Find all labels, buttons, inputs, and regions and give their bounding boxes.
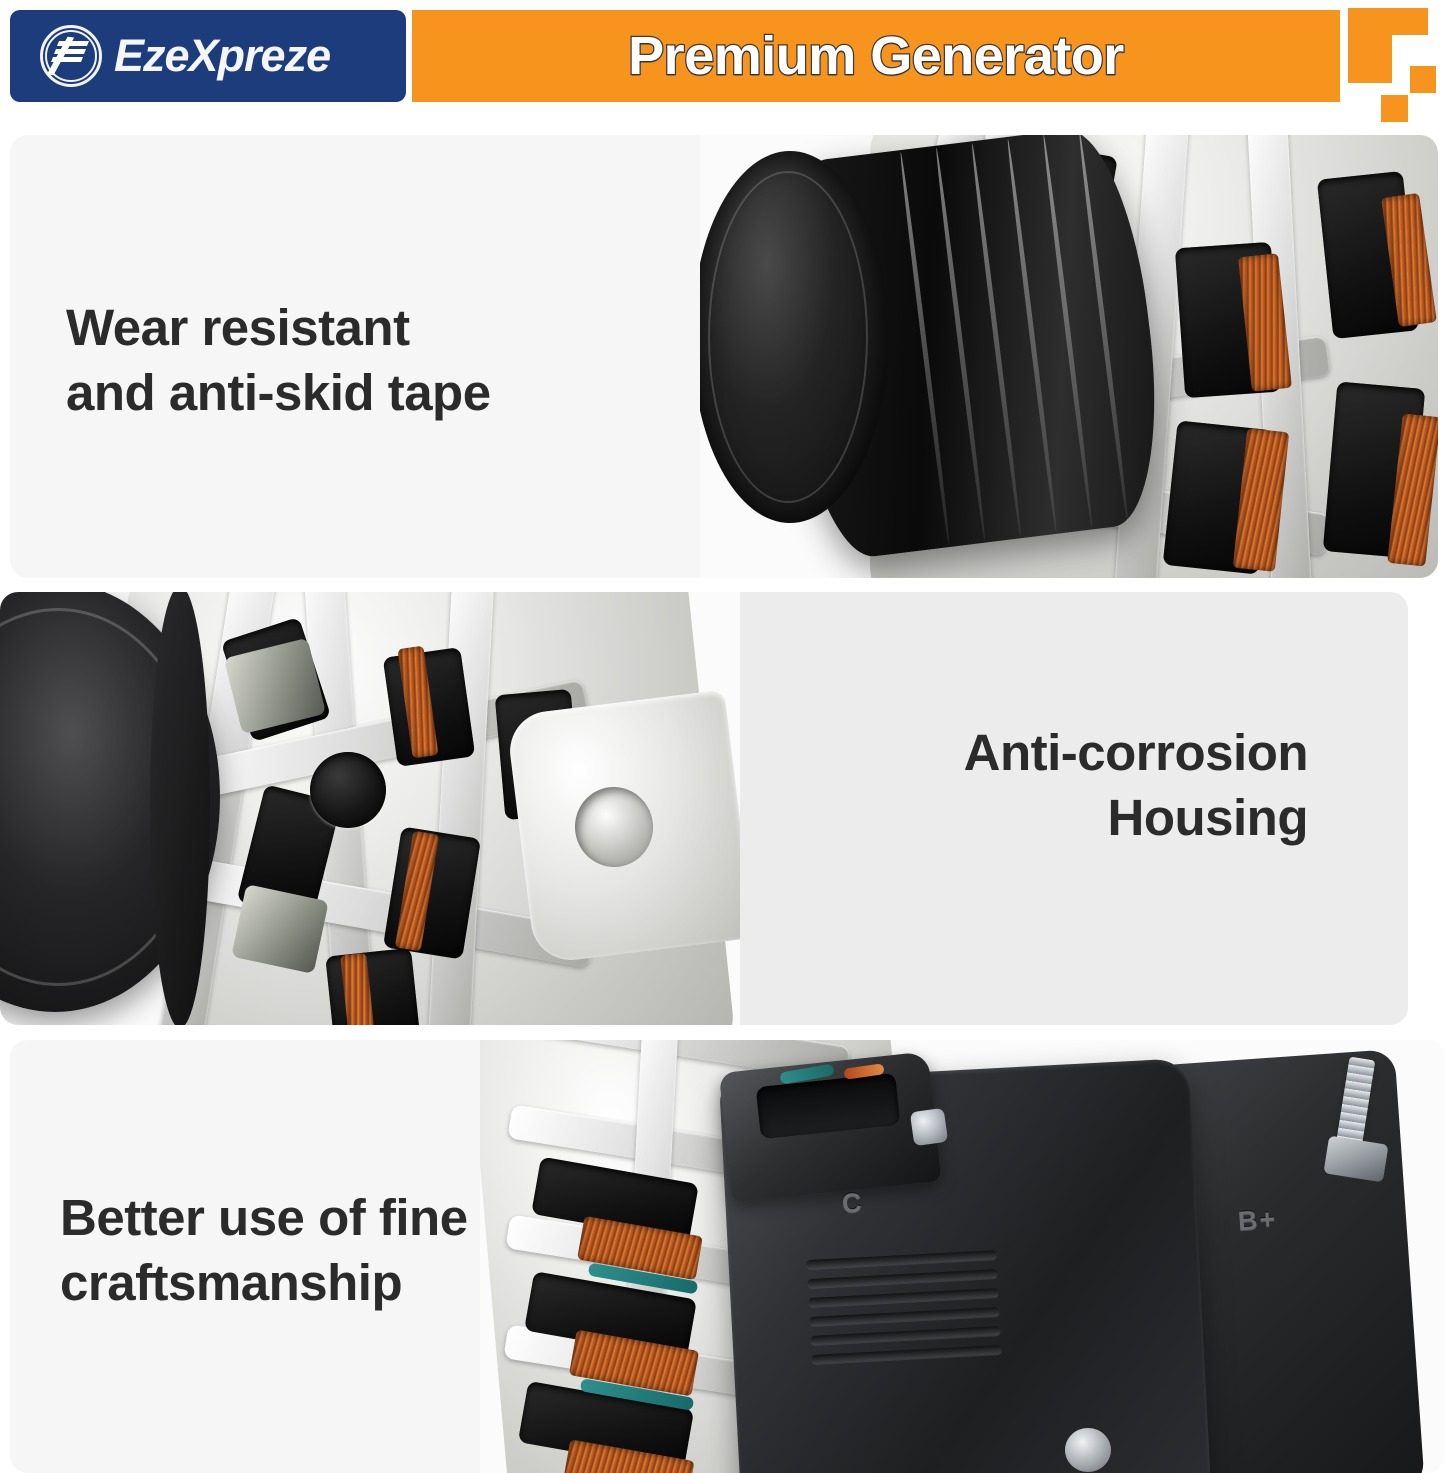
panel-1-caption: Wear resistant and anti-skid tape (66, 295, 491, 426)
alternator-housing-mounting-ear-image (0, 592, 740, 1025)
stepped-squares-decoration-icon (1348, 5, 1445, 123)
center-bolt (1065, 1428, 1111, 1472)
page-title: Premium Generator (628, 25, 1124, 87)
alternator-pulley-closeup-image (700, 135, 1438, 578)
brand-name: EzeXpreze (114, 30, 330, 82)
page-header: EzeXpreze Premium Generator (0, 0, 1445, 118)
housing-boss-hole (310, 752, 386, 828)
title-banner: Premium Generator (412, 10, 1340, 102)
ezexpreze-circular-bolt-badge-icon (40, 25, 102, 87)
brand-logo-box: EzeXpreze (10, 10, 406, 102)
panel-2-caption: Anti-corrosion Housing (964, 720, 1308, 851)
feature-panel-anti-corrosion: Anti-corrosion Housing (0, 592, 1408, 1025)
feature-panel-wear-resistant: Wear resistant and anti-skid tape (10, 135, 1438, 578)
panel-3-caption: Better use of fine craftsmanship (60, 1185, 468, 1316)
terminal-marking-c: C (841, 1187, 865, 1219)
alternator-rear-regulator-connector-image: C B+ (480, 1040, 1445, 1473)
cover-louvres (806, 1250, 1003, 1400)
feature-panel-craftsmanship: C B+ Better use of fine craftsmanship (10, 1040, 1445, 1473)
cover-bolt (910, 1108, 948, 1146)
pulley-face (700, 151, 888, 523)
terminal-marking-b-plus: B+ (1237, 1204, 1278, 1238)
